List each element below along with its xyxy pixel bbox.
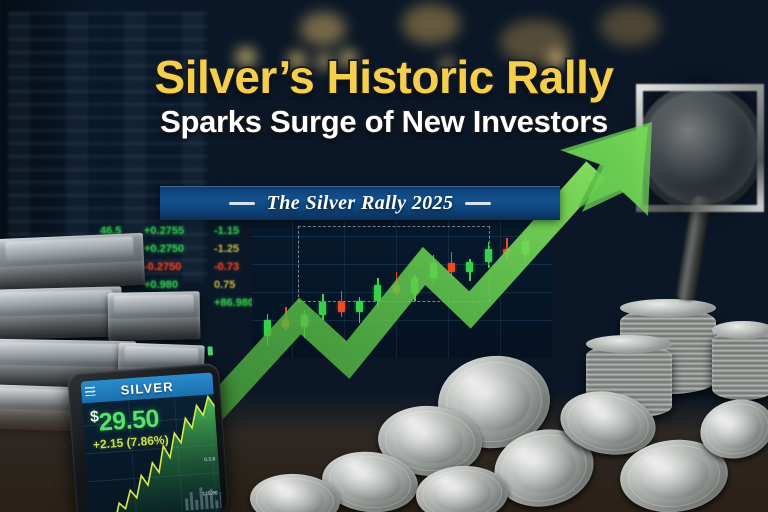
phone-line-chart: [81, 372, 222, 512]
phone-axis-label: 125.90: [202, 490, 218, 497]
silver-bar: [108, 291, 201, 341]
bokeh-light: [600, 6, 660, 46]
candle: [393, 272, 400, 298]
phone-screen[interactable]: SILVER $29.50 +2.15 (7.86%): [81, 372, 222, 512]
candle: [319, 294, 326, 320]
candle: [485, 242, 492, 268]
banner: The Silver Rally 2025: [160, 186, 560, 220]
banner-dash-right: [465, 202, 491, 205]
bokeh-light: [402, 4, 460, 44]
silver-bar: [0, 233, 145, 291]
headline: Silver’s Historic Rally Sparks Surge of …: [0, 52, 768, 140]
candle: [356, 297, 363, 323]
candle: [466, 259, 473, 282]
smartphone[interactable]: SILVER $29.50 +2.15 (7.86%): [67, 363, 229, 512]
candle: [301, 310, 308, 338]
candle: [448, 252, 455, 276]
headline-line-2: Sparks Surge of New Investors: [0, 104, 768, 140]
silver-bar: [0, 286, 123, 339]
coin-stack: [712, 330, 768, 400]
candle: [264, 314, 271, 346]
candlestick-chart: [252, 218, 552, 358]
candle: [411, 275, 418, 301]
candle: [430, 255, 437, 284]
candle: [522, 236, 529, 262]
phone-axis-label: 0.3.6: [204, 456, 216, 463]
candle: [374, 278, 381, 307]
candle: [338, 291, 345, 317]
headline-line-1: Silver’s Historic Rally: [0, 52, 768, 102]
battery-icon: [207, 346, 213, 355]
banner-title: The Silver Rally 2025: [267, 192, 454, 215]
banner-dash-left: [229, 202, 255, 205]
candle: [282, 307, 289, 330]
promo-graphic: 46.5 +0.2755 -1.15 +0.2750 -1.25 -0.2750…: [0, 0, 768, 512]
candle: [503, 238, 510, 259]
bokeh-light: [300, 12, 346, 46]
